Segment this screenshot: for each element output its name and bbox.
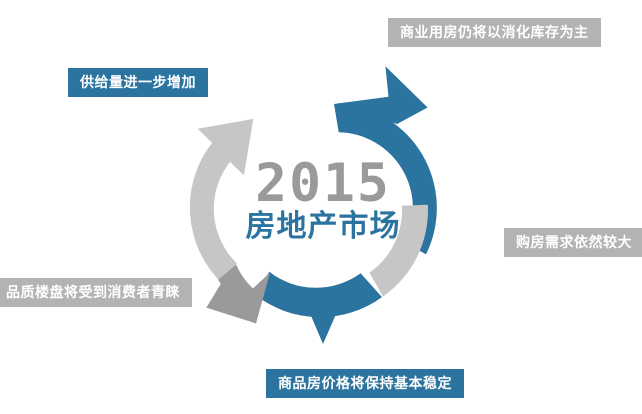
center-title-block: 2015 房地产市场 [223, 143, 423, 255]
center-year: 2015 [255, 157, 391, 210]
center-subtitle: 房地产市场 [246, 212, 401, 242]
label-purchase-demand[interactable]: 购房需求依然较大 [504, 228, 642, 257]
label-commercial-housing[interactable]: 商业用房仍将以消化库存为主 [388, 18, 601, 47]
infographic-canvas: 2015 房地产市场 供给量进一步增加 商业用房仍将以消化库存为主 购房需求依然… [0, 0, 642, 414]
label-quality-properties[interactable]: 品质楼盘将受到消费者青睐 [0, 278, 192, 307]
label-supply[interactable]: 供给量进一步增加 [68, 68, 208, 97]
ring-segment-bottom [255, 272, 382, 344]
label-price-stability[interactable]: 商品房价格将保持基本稳定 [266, 369, 464, 398]
